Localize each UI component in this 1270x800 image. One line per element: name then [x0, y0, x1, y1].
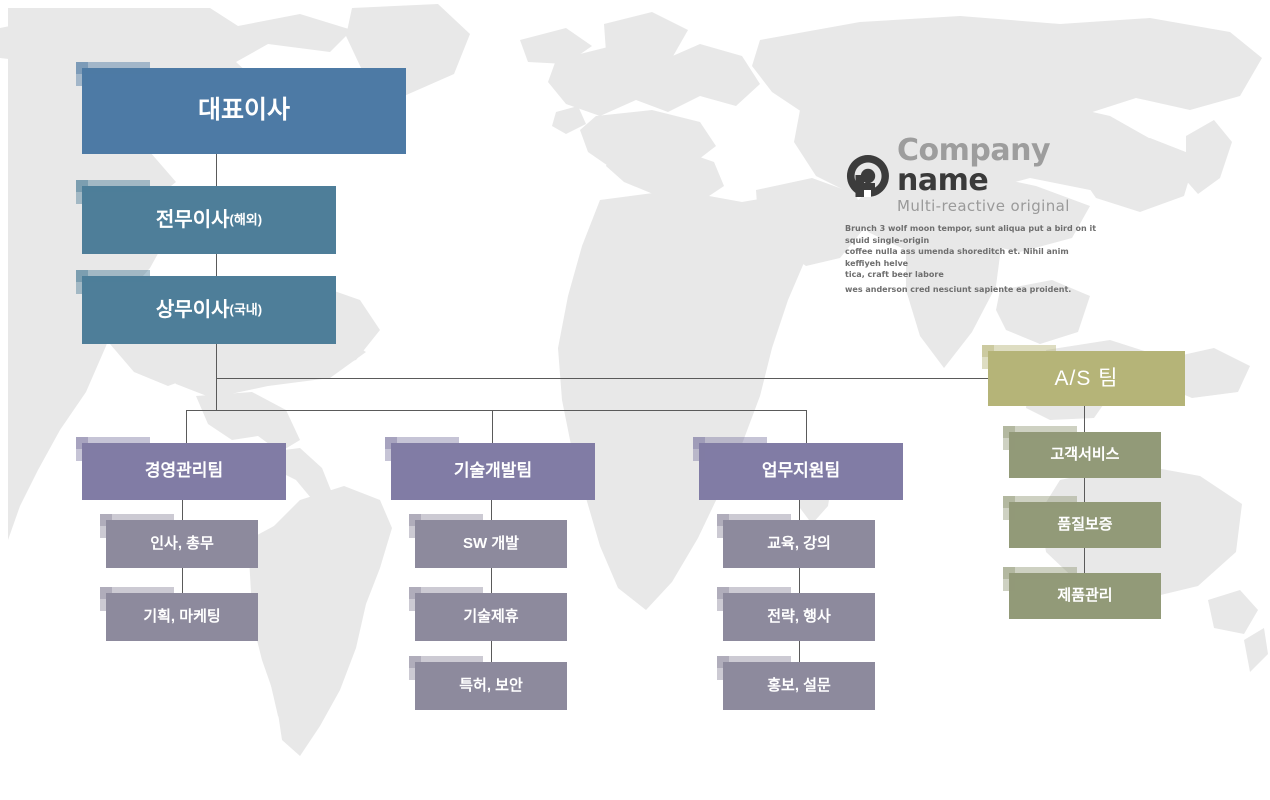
org-node-as-team-member-3-label: 제품관리 [1057, 588, 1112, 605]
org-node-team-rnd-member-2[interactable]: 기술제휴 [415, 593, 567, 641]
connector-team1-chain-2 [182, 568, 183, 593]
org-node-team-rnd-label: 기술개발팀 [454, 462, 532, 481]
org-node-team-management-member-1-label: 인사, 총무 [150, 536, 214, 553]
org-node-team-management-member-1[interactable]: 인사, 총무 [106, 520, 258, 568]
logo-row: Company name Multi-reactive original [845, 136, 1095, 215]
logo-tagline: Multi-reactive original [897, 197, 1095, 215]
logo-body-text: Brunch 3 wolf moon tempor, sunt aliqua p… [845, 223, 1097, 296]
connector-as-chain-2 [1084, 478, 1085, 502]
org-node-as-team-member-2-label: 품질보증 [1057, 517, 1112, 534]
org-node-team-support-member-3-label: 홍보, 설문 [767, 678, 831, 695]
org-node-team-support[interactable]: 업무지원팀 [699, 443, 903, 500]
connector-ceo-to-managing [216, 154, 217, 186]
org-node-team-support-member-1[interactable]: 교육, 강의 [723, 520, 875, 568]
company-logo-block: Company name Multi-reactive original Bru… [845, 136, 1095, 296]
org-node-team-rnd-member-1-label: SW 개발 [463, 536, 519, 553]
connector-team1-chain-1 [182, 500, 183, 520]
org-node-team-support-label: 업무지원팀 [762, 462, 840, 481]
connector-director-down-as [216, 344, 217, 378]
org-node-as-team[interactable]: A/S 팀 [988, 351, 1185, 406]
logo-title: Company name [897, 136, 1095, 196]
org-node-as-team-member-1[interactable]: 고객서비스 [1009, 432, 1161, 478]
connector-bus-to-as-team [216, 378, 988, 379]
logo-body-line-2: coffee nulla ass umenda shoreditch et. N… [845, 246, 1097, 269]
org-node-executive-director-label: 상무이사 [156, 299, 230, 321]
org-node-team-rnd[interactable]: 기술개발팀 [391, 443, 595, 500]
org-node-team-management-member-2-label: 기획, 마케팅 [143, 609, 220, 626]
org-node-as-team-label: A/S 팀 [1054, 367, 1118, 390]
logo-wordmark: Company name Multi-reactive original [897, 136, 1095, 215]
stylized-p-logo-icon [845, 153, 891, 199]
org-node-executive-director-suffix: (국내) [230, 303, 263, 317]
connector-team2-chain-3 [491, 640, 492, 662]
org-node-as-team-member-1-label: 고객서비스 [1050, 447, 1119, 464]
connector-team3-chain-3 [799, 640, 800, 662]
org-node-as-team-member-2[interactable]: 품질보증 [1009, 502, 1161, 548]
org-node-team-rnd-member-3[interactable]: 특허, 보안 [415, 662, 567, 710]
org-node-team-management[interactable]: 경영관리팀 [82, 443, 286, 500]
logo-body-line-4: wes anderson cred nesciunt sapiente ea p… [845, 284, 1097, 296]
org-chart-canvas: 대표이사 전무이사(해외) 상무이사(국내) 경영관리팀 인사, 총무 기획, … [0, 0, 1270, 800]
org-node-team-support-member-1-label: 교육, 강의 [767, 536, 831, 553]
org-node-as-team-member-3[interactable]: 제품관리 [1009, 573, 1161, 619]
connector-team3-chain-1 [799, 500, 800, 520]
connector-team3-chain-2 [799, 568, 800, 593]
org-node-managing-director-suffix: (해외) [230, 213, 263, 227]
org-node-team-support-member-2-label: 전략, 행사 [767, 609, 831, 626]
connector-drop-team-3 [806, 410, 807, 443]
org-node-team-management-label: 경영관리팀 [145, 462, 223, 481]
org-node-team-support-member-3[interactable]: 홍보, 설문 [723, 662, 875, 710]
connector-team2-chain-2 [491, 568, 492, 593]
org-node-team-management-member-2[interactable]: 기획, 마케팅 [106, 593, 258, 641]
connector-drop-team-1 [186, 410, 187, 443]
connector-as-chain-3 [1084, 548, 1085, 573]
org-node-team-rnd-member-2-label: 기술제휴 [463, 609, 518, 626]
org-node-ceo[interactable]: 대표이사 [82, 68, 406, 154]
org-node-team-rnd-member-3-label: 특허, 보안 [459, 678, 523, 695]
logo-body-line-1: Brunch 3 wolf moon tempor, sunt aliqua p… [845, 223, 1097, 246]
org-node-team-support-member-2[interactable]: 전략, 행사 [723, 593, 875, 641]
org-node-team-rnd-member-1[interactable]: SW 개발 [415, 520, 567, 568]
connector-as-chain-1 [1084, 406, 1085, 432]
org-node-managing-director-label: 전무이사 [156, 209, 230, 231]
connector-director-down-teams [216, 378, 217, 410]
logo-title-part2: name [897, 163, 988, 198]
logo-body-line-3: tica, craft beer labore [845, 269, 1097, 281]
org-node-ceo-label: 대표이사 [198, 97, 290, 125]
connector-teams-bus [186, 410, 806, 411]
connector-team2-chain-1 [491, 500, 492, 520]
org-node-executive-director[interactable]: 상무이사(국내) [82, 276, 336, 344]
connector-drop-team-2 [492, 410, 493, 443]
org-node-managing-director[interactable]: 전무이사(해외) [82, 186, 336, 254]
